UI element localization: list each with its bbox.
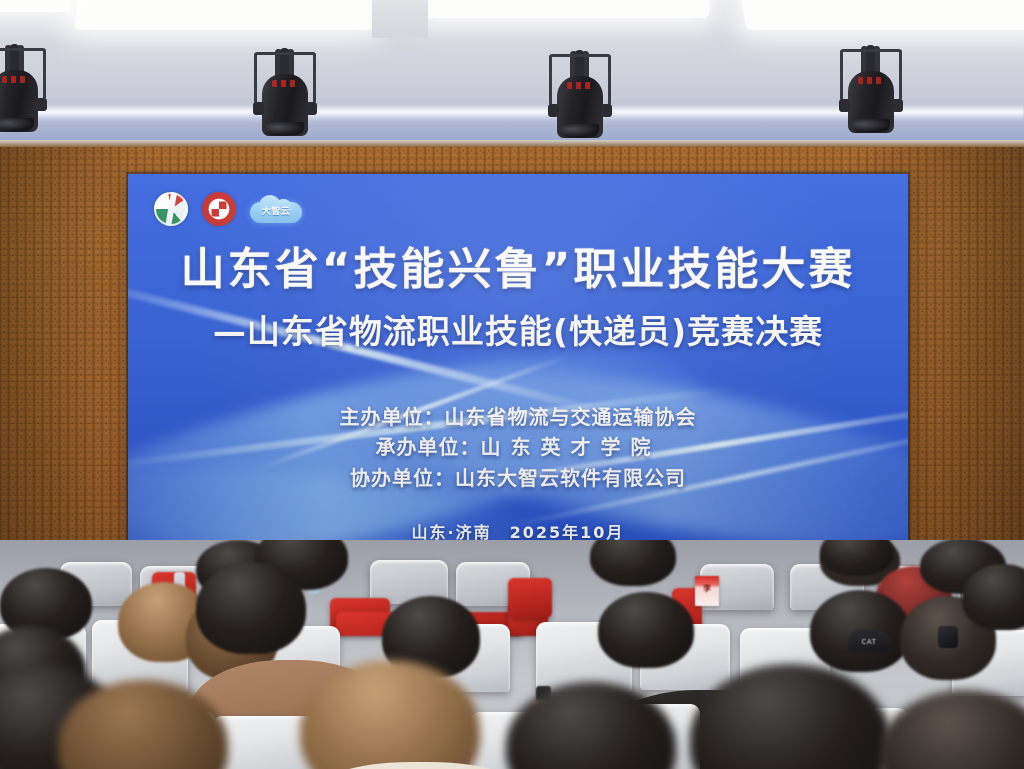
light-knob-right [306, 102, 317, 115]
light-indicator-leds [567, 82, 593, 89]
organizer-name-undertaker: 山东英才学院 [481, 435, 661, 459]
organizer-role-undertaker: 承办单位： [376, 435, 481, 459]
screen-title-block: 山东省“技能兴鲁”职业技能大赛 —山东省物流职业技能(快递员)竞赛决赛 [128, 246, 908, 353]
hair-clip [938, 626, 958, 648]
organizer-name-coorganizer: 山东大智云软件有限公司 [455, 466, 686, 490]
skylight-right [738, 0, 1024, 30]
audience-head [820, 540, 894, 576]
front-row-red-seat-r3 [508, 578, 552, 618]
light-indicator-leds [272, 80, 298, 87]
skylight-far-left [0, 0, 70, 12]
skylight-left [74, 0, 383, 30]
organizer-line-undertaker: 承办单位：山东英才学院 [128, 432, 908, 462]
organizer-name-host: 山东省物流与交通运输协会 [445, 405, 697, 429]
organizer-block: 主办单位：山东省物流与交通运输协会 承办单位：山东英才学院 协办单位：山东大智云… [128, 402, 908, 493]
audience-head [590, 540, 676, 586]
light-indicator-leds [2, 76, 28, 83]
led-stage-screen: 大智云 山东省“技能兴鲁”职业技能大赛 —山东省物流职业技能(快递员)竞赛决赛 … [128, 174, 908, 560]
light-indicator-leds [858, 77, 884, 84]
ceiling-recess-center [372, 0, 428, 38]
association-globe-logo-icon [154, 192, 188, 226]
wall-top-trim [0, 140, 1024, 147]
conference-hall-photo: 大智云 山东省“技能兴鲁”职业技能大赛 —山东省物流职业技能(快递员)竞赛决赛 … [0, 0, 1024, 769]
skylight-center [419, 0, 711, 18]
stage-par-light-3 [547, 50, 613, 145]
light-knob-right [601, 104, 612, 117]
audience-head [196, 562, 306, 654]
stage-par-light-4 [838, 45, 904, 140]
stage-par-light-2 [252, 48, 318, 143]
name-placard: 李 [695, 576, 719, 606]
light-lens [266, 122, 304, 135]
cloud-logo-label: 大智云 [250, 204, 302, 217]
dazhiyun-cloud-logo-icon: 大智云 [250, 193, 302, 225]
baseball-cap: CAT [848, 630, 890, 652]
light-lens [852, 119, 890, 132]
event-title-sub: —山东省物流职业技能(快递员)竞赛决赛 [128, 305, 908, 353]
audience-area: 李 CAT [0, 540, 1024, 769]
event-title-main: 山东省“技能兴鲁”职业技能大赛 [128, 246, 908, 294]
light-knob-right [36, 98, 47, 111]
light-knob-left [253, 102, 264, 115]
organizer-role-coorganizer: 协办单位： [350, 466, 455, 490]
audience-head [598, 592, 694, 668]
organizer-line-coorganizer: 协办单位：山东大智云软件有限公司 [128, 463, 908, 493]
light-knob-left [839, 99, 850, 112]
organizer-line-host: 主办单位：山东省物流与交通运输协会 [128, 402, 908, 432]
light-knob-left [548, 104, 559, 117]
stage-par-light-1 [0, 44, 48, 139]
light-lens [561, 124, 599, 137]
ceiling [0, 0, 1024, 152]
university-seal-logo-icon [202, 192, 236, 226]
light-lens [0, 118, 34, 131]
organizer-role-host: 主办单位： [340, 405, 445, 429]
sponsor-logo-row: 大智云 [154, 192, 302, 226]
light-knob-right [892, 99, 903, 112]
